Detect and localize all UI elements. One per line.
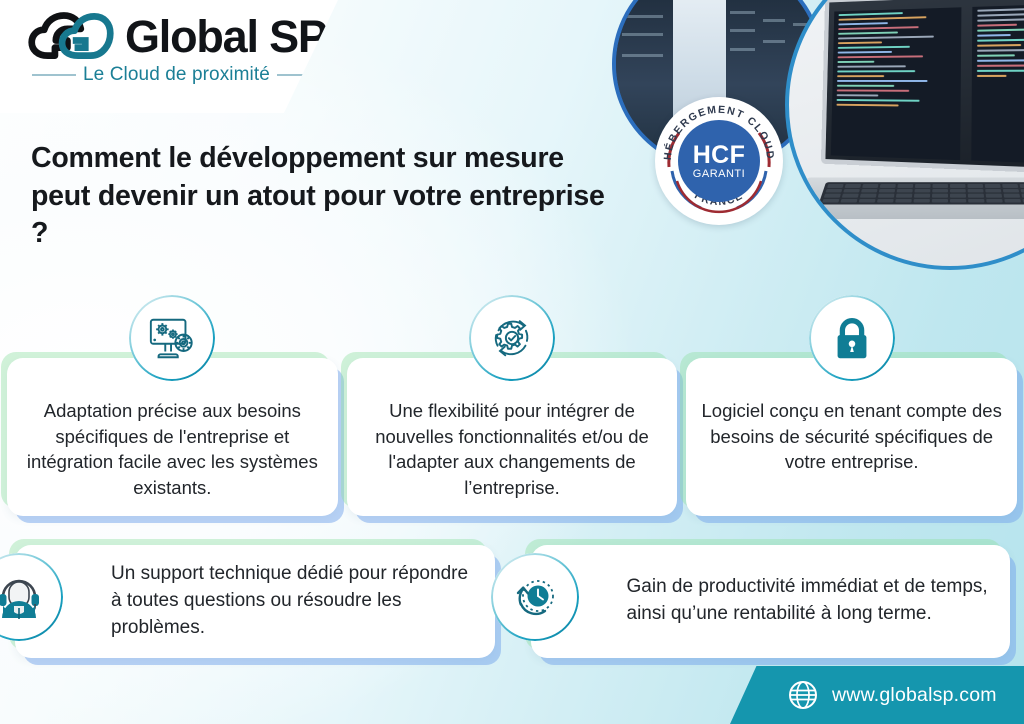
hcf-sublabel: GARANTI [693,169,745,180]
benefit-card-security: Logiciel conçu en tenant compte des beso… [686,358,1017,516]
padlock-icon [809,295,895,381]
page-title: Comment le développement sur mesure peut… [31,140,616,253]
footer-website-bar[interactable]: www.globalsp.com [730,666,1024,724]
monitor-gears-glyph [147,313,197,363]
hcf-certification-badge: HÉBERGEMENT CLOUD FRANCE HCF GARANTI [655,97,783,225]
brand-logo[interactable]: Global SP [28,11,327,61]
gear-check-refresh-glyph [487,313,537,363]
benefit-card-productivity: Gain de productivité immédiat et de temp… [531,545,1011,658]
hcf-label: HCF [693,143,746,168]
benefit-card-text: Une flexibilité pour intégrer de nouvell… [361,398,664,500]
headset-support-agent-icon [0,553,63,641]
monitor-gears-icon [129,295,215,381]
headset-support-agent-glyph [0,570,46,624]
clock-arrow-glyph [508,570,562,624]
benefit-card-text: Adaptation précise aux besoins spécifiqu… [21,398,324,500]
benefit-card-support: Un support technique dédié pour répondre… [15,545,495,658]
tagline-rule-left [32,74,76,76]
benefit-card-text: Gain de productivité immédiat et de temp… [627,574,989,628]
double-cloud-icon [28,11,114,61]
infographic-canvas: HÉBERGEMENT CLOUD FRANCE HCF GARANTI Glo… [0,0,1024,724]
benefit-card-adaptation: Adaptation précise aux besoins spécifiqu… [7,358,338,516]
globe-icon [788,680,818,710]
tagline-text: Le Cloud de proximité [83,64,270,86]
logo-panel: Global SP Le Cloud de proximité [0,0,338,113]
benefits-row-bottom: Un support technique dédié pour répondre… [15,545,1010,658]
footer-url-text: www.globalsp.com [832,684,997,707]
clock-arrow-icon [491,553,579,641]
gear-check-refresh-icon [469,295,555,381]
brand-name: Global SP [125,14,327,59]
hcf-badge-center: HCF GARANTI [678,120,760,202]
benefit-card-text: Un support technique dédié pour répondre… [111,561,473,642]
laptop-code-photo [785,0,1024,270]
tagline-rule-right [277,74,309,76]
benefits-row-top: Adaptation précise aux besoins spécifiqu… [7,358,1017,516]
brand-tagline: Le Cloud de proximité [32,64,300,86]
padlock-glyph [827,313,877,363]
benefit-card-flexibility: Une flexibilité pour intégrer de nouvell… [347,358,678,516]
benefit-card-text: Logiciel conçu en tenant compte des beso… [700,398,1003,475]
